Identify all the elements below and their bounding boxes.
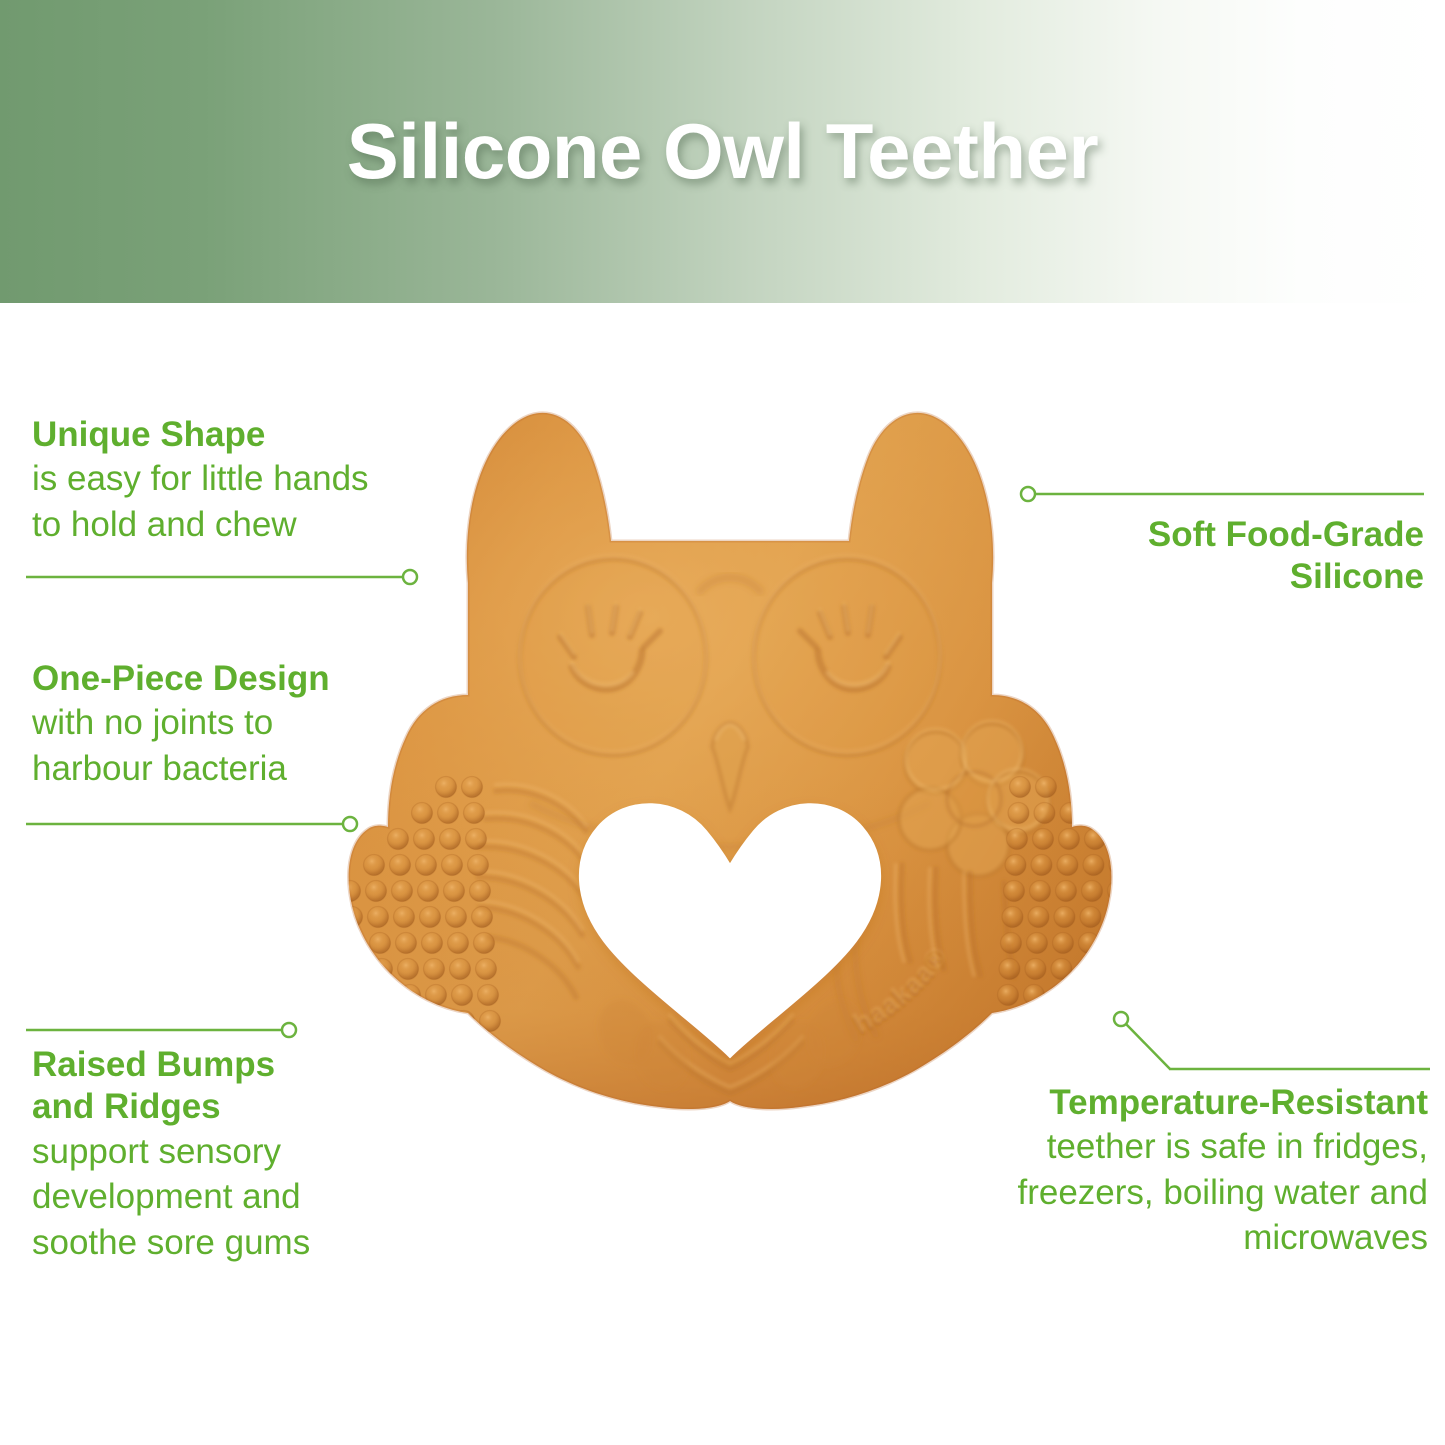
connector-soft-food-grade [1018,482,1428,506]
page-title: Silicone Owl Teether [0,0,1445,303]
callout-soft-food-grade-headline-line-2: Silicone [1000,556,1424,597]
callout-temperature-resistant: Temperature-Resistant teether is safe in… [950,1082,1428,1261]
callout-temperature-resistant-headline: Temperature-Resistant [950,1082,1428,1123]
connector-raised-bumps [20,1018,300,1042]
callout-one-piece-design-body-line-2: harbour bacteria [32,746,432,792]
callout-temperature-resistant-body-line-3: microwaves [950,1215,1428,1261]
callout-raised-bumps: Raised Bumps and Ridges support sensory … [32,1044,432,1265]
callout-unique-shape: Unique Shape is easy for little hands to… [32,414,432,547]
callout-raised-bumps-headline-line-2: and Ridges [32,1086,432,1127]
callout-unique-shape-body-line-1: is easy for little hands [32,456,432,502]
callout-soft-food-grade-headline-line-1: Soft Food-Grade [1000,514,1424,555]
callout-unique-shape-headline: Unique Shape [32,414,432,455]
callout-temperature-resistant-body-line-2: freezers, boiling water and [950,1170,1428,1216]
callout-one-piece-design: One-Piece Design with no joints to harbo… [32,658,432,791]
right-eye-emboss [754,556,940,755]
callout-raised-bumps-body-line-2: development and [32,1174,432,1220]
left-eye-emboss [520,556,706,755]
connector-unique-shape [20,565,420,589]
connector-one-piece-design [20,812,360,836]
callout-raised-bumps-body-line-3: soothe sore gums [32,1220,432,1266]
header-banner: Silicone Owl Teether [0,0,1445,303]
callout-temperature-resistant-body-line-1: teether is safe in fridges, [950,1124,1428,1170]
callout-raised-bumps-headline-line-1: Raised Bumps [32,1044,432,1085]
callout-one-piece-design-body-line-1: with no joints to [32,700,432,746]
callout-raised-bumps-body-line-1: support sensory [32,1129,432,1175]
callout-one-piece-design-headline: One-Piece Design [32,658,432,699]
callout-unique-shape-body-line-2: to hold and chew [32,502,432,548]
callout-soft-food-grade: Soft Food-Grade Silicone [1000,514,1424,599]
infographic-root: Silicone Owl Teether [0,0,1445,1445]
